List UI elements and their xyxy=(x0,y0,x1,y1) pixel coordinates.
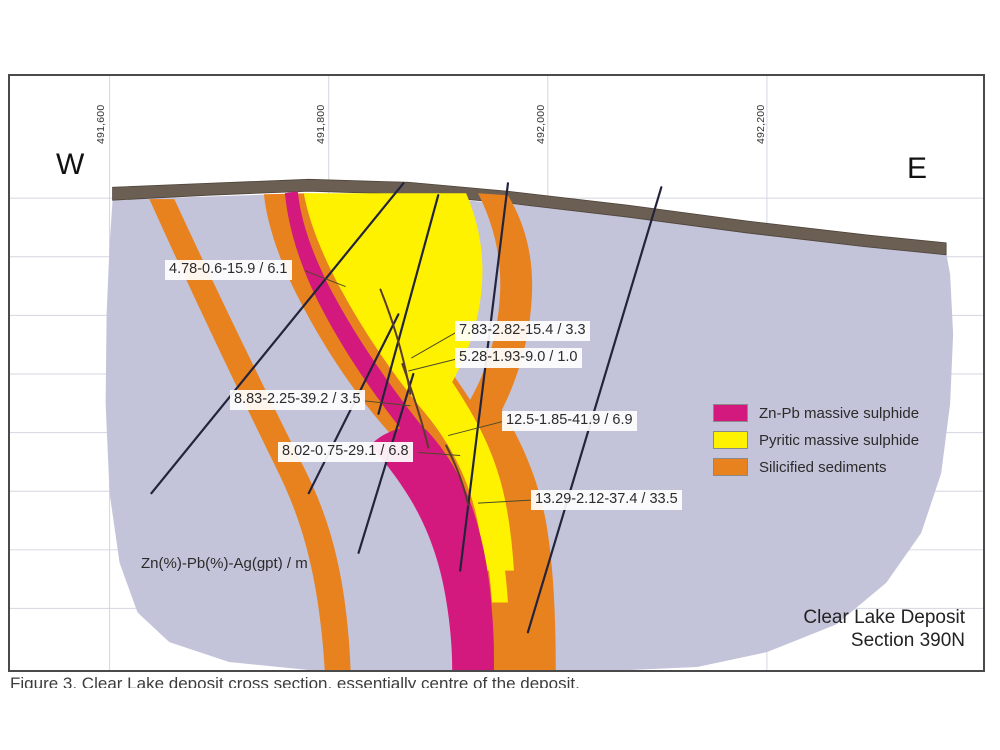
legend-label-pyritic: Pyritic massive sulphide xyxy=(759,432,919,449)
legend-swatch-pyritic-icon xyxy=(713,431,748,449)
x-tick-491800: 491,800 xyxy=(315,105,327,144)
annotation-12-5: 12.5-1.85-41.9 / 6.9 xyxy=(502,411,637,431)
annotation-13-29: 13.29-2.12-37.4 / 33.5 xyxy=(531,490,682,510)
x-tick-492200: 492,200 xyxy=(755,105,767,144)
figure-caption: Figure 3. Clear Lake deposit cross secti… xyxy=(10,674,710,688)
x-tick-491600: 491,600 xyxy=(95,105,107,144)
geological-cross-section-figure: 700 650 600 550 500 450 400 350 491,600 … xyxy=(0,0,1000,750)
legend: Zn-Pb massive sulphide Pyritic massive s… xyxy=(713,401,919,482)
section-plot-frame: 700 650 600 550 500 450 400 350 491,600 … xyxy=(8,74,985,672)
compass-label-west: W xyxy=(56,148,84,182)
legend-swatch-zn-pb-icon xyxy=(713,404,748,422)
section-name: Section 390N xyxy=(803,629,965,652)
annotation-8-02: 8.02-0.75-29.1 / 6.8 xyxy=(278,442,413,462)
x-tick-492000: 492,000 xyxy=(535,105,547,144)
deposit-name: Clear Lake Deposit xyxy=(803,606,965,629)
annotation-4-78: 4.78-0.6-15.9 / 6.1 xyxy=(165,260,292,280)
legend-item-silicified-sediments: Silicified sediments xyxy=(713,455,919,479)
annotation-7-83: 7.83-2.82-15.4 / 3.3 xyxy=(455,321,590,341)
legend-label-zn-pb: Zn-Pb massive sulphide xyxy=(759,405,919,422)
deposit-title-block: Clear Lake Deposit Section 390N xyxy=(803,606,965,652)
legend-swatch-silicified-icon xyxy=(713,458,748,476)
legend-item-zn-pb-massive-sulphide: Zn-Pb massive sulphide xyxy=(713,401,919,425)
annotation-8-83: 8.83-2.25-39.2 / 3.5 xyxy=(230,390,365,410)
cross-section-drawing xyxy=(10,76,983,670)
annotation-5-28: 5.28-1.93-9.0 / 1.0 xyxy=(455,348,582,368)
legend-label-silicified: Silicified sediments xyxy=(759,459,887,476)
legend-item-pyritic-massive-sulphide: Pyritic massive sulphide xyxy=(713,428,919,452)
grade-units-note: Zn(%)-Pb(%)-Ag(gpt) / m xyxy=(141,555,308,572)
compass-label-east: E xyxy=(907,152,927,186)
